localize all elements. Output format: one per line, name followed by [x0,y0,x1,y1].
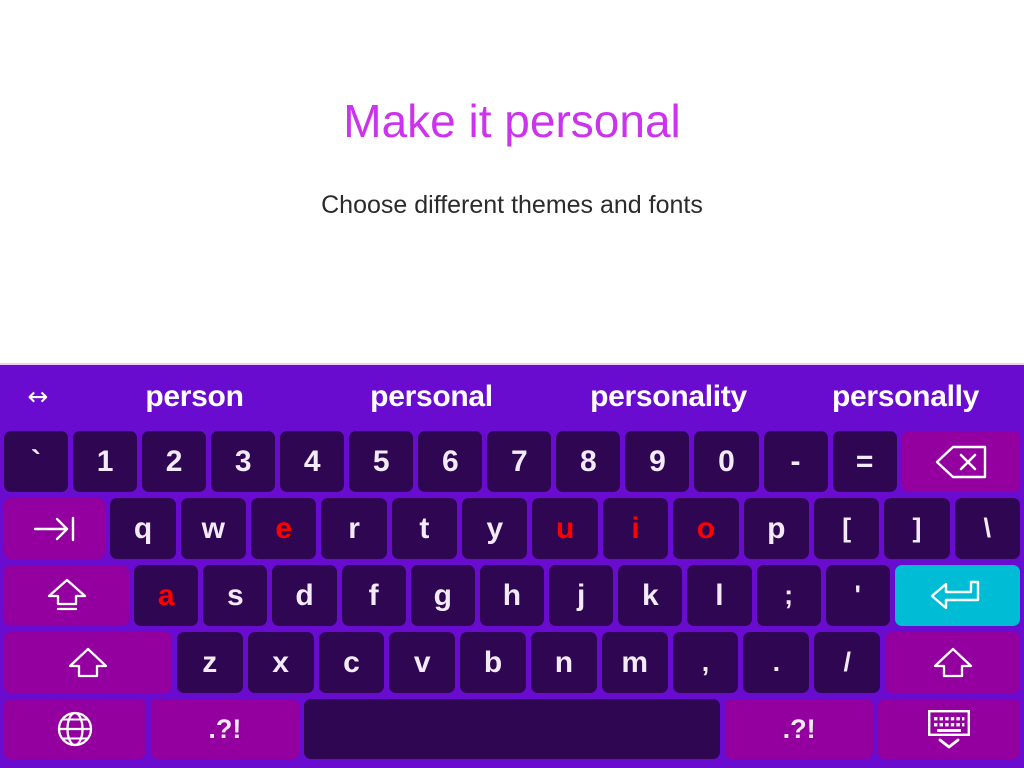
page-subtitle: Choose different themes and fonts [0,147,1024,220]
enter-icon [928,578,986,614]
capslock-icon [45,577,89,615]
keyboard-dismiss-icon [928,710,970,749]
key-2[interactable]: 2 [142,431,206,492]
suggestion-item-1[interactable]: personal [313,380,550,414]
key-h[interactable]: h [480,565,544,626]
key-a[interactable]: a [134,565,198,626]
key-globe[interactable] [4,699,146,759]
key-backspace[interactable] [902,431,1020,492]
key-j[interactable]: j [549,565,613,626]
key-t[interactable]: t [392,498,457,559]
key-enter[interactable] [895,565,1020,626]
key-w[interactable]: w [181,498,246,559]
left-right-arrows-icon[interactable]: ↔ [0,384,76,409]
key-6[interactable]: 6 [418,431,482,492]
key-q[interactable]: q [110,498,175,559]
key-period[interactable]: . [743,632,809,693]
key-tab[interactable] [4,498,105,559]
key-z[interactable]: z [177,632,243,693]
suggestion-item-0[interactable]: person [76,380,313,414]
keyboard-row-top: q w e r t y u i o p [ ] \ [0,495,1024,562]
keyboard-row-function: .?! .?! [0,696,1024,762]
key-punctuation-right[interactable]: .?! [725,699,873,759]
shift-icon [66,645,110,681]
keyboard-row-home: a s d f g h j k l ; ' [0,562,1024,629]
keyboard-glyph-icon [928,710,970,736]
slide-header: Make it personal Choose different themes… [0,0,1024,363]
key-apostrophe[interactable]: ' [826,565,890,626]
key-9[interactable]: 9 [625,431,689,492]
key-o[interactable]: o [673,498,738,559]
key-8[interactable]: 8 [556,431,620,492]
key-c[interactable]: c [319,632,385,693]
key-b[interactable]: b [460,632,526,693]
key-x[interactable]: x [248,632,314,693]
key-0[interactable]: 0 [694,431,758,492]
shift-icon [931,645,975,681]
key-s[interactable]: s [203,565,267,626]
globe-icon [56,710,94,748]
key-space[interactable] [304,699,720,759]
key-3[interactable]: 3 [211,431,275,492]
key-d[interactable]: d [272,565,336,626]
key-capslock[interactable] [4,565,129,626]
key-shift-right[interactable] [885,632,1020,693]
key-p[interactable]: p [744,498,809,559]
page-title: Make it personal [0,0,1024,147]
key-punctuation-left[interactable]: .?! [151,699,299,759]
key-g[interactable]: g [411,565,475,626]
key-backtick[interactable]: ` [4,431,68,492]
virtual-keyboard: ↔ person personal personality personally… [0,363,1024,768]
key-f[interactable]: f [342,565,406,626]
key-u[interactable]: u [532,498,597,559]
chevron-down-icon [937,737,961,749]
key-7[interactable]: 7 [487,431,551,492]
key-backslash[interactable]: \ [955,498,1020,559]
backspace-icon [934,445,988,479]
key-k[interactable]: k [618,565,682,626]
key-l[interactable]: l [687,565,751,626]
tab-icon [31,514,79,544]
key-equals[interactable]: = [833,431,897,492]
key-n[interactable]: n [531,632,597,693]
key-v[interactable]: v [389,632,455,693]
key-minus[interactable]: - [764,431,828,492]
keyboard-row-numbers: ` 1 2 3 4 5 6 7 8 9 0 - = [0,428,1024,495]
key-semicolon[interactable]: ; [757,565,821,626]
key-r[interactable]: r [321,498,386,559]
key-bracket-left[interactable]: [ [814,498,879,559]
key-comma[interactable]: , [673,632,739,693]
suggestion-item-2[interactable]: personality [550,380,787,414]
key-5[interactable]: 5 [349,431,413,492]
key-4[interactable]: 4 [280,431,344,492]
key-e[interactable]: e [251,498,316,559]
key-bracket-right[interactable]: ] [884,498,949,559]
keyboard-row-bottom: z x c v b n m , . / [0,629,1024,696]
key-i[interactable]: i [603,498,668,559]
key-slash[interactable]: / [814,632,880,693]
key-1[interactable]: 1 [73,431,137,492]
suggestion-bar: ↔ person personal personality personally [0,365,1024,428]
key-shift-left[interactable] [4,632,172,693]
suggestion-item-3[interactable]: personally [787,380,1024,414]
key-y[interactable]: y [462,498,527,559]
key-m[interactable]: m [602,632,668,693]
key-dismiss-keyboard[interactable] [878,699,1020,759]
